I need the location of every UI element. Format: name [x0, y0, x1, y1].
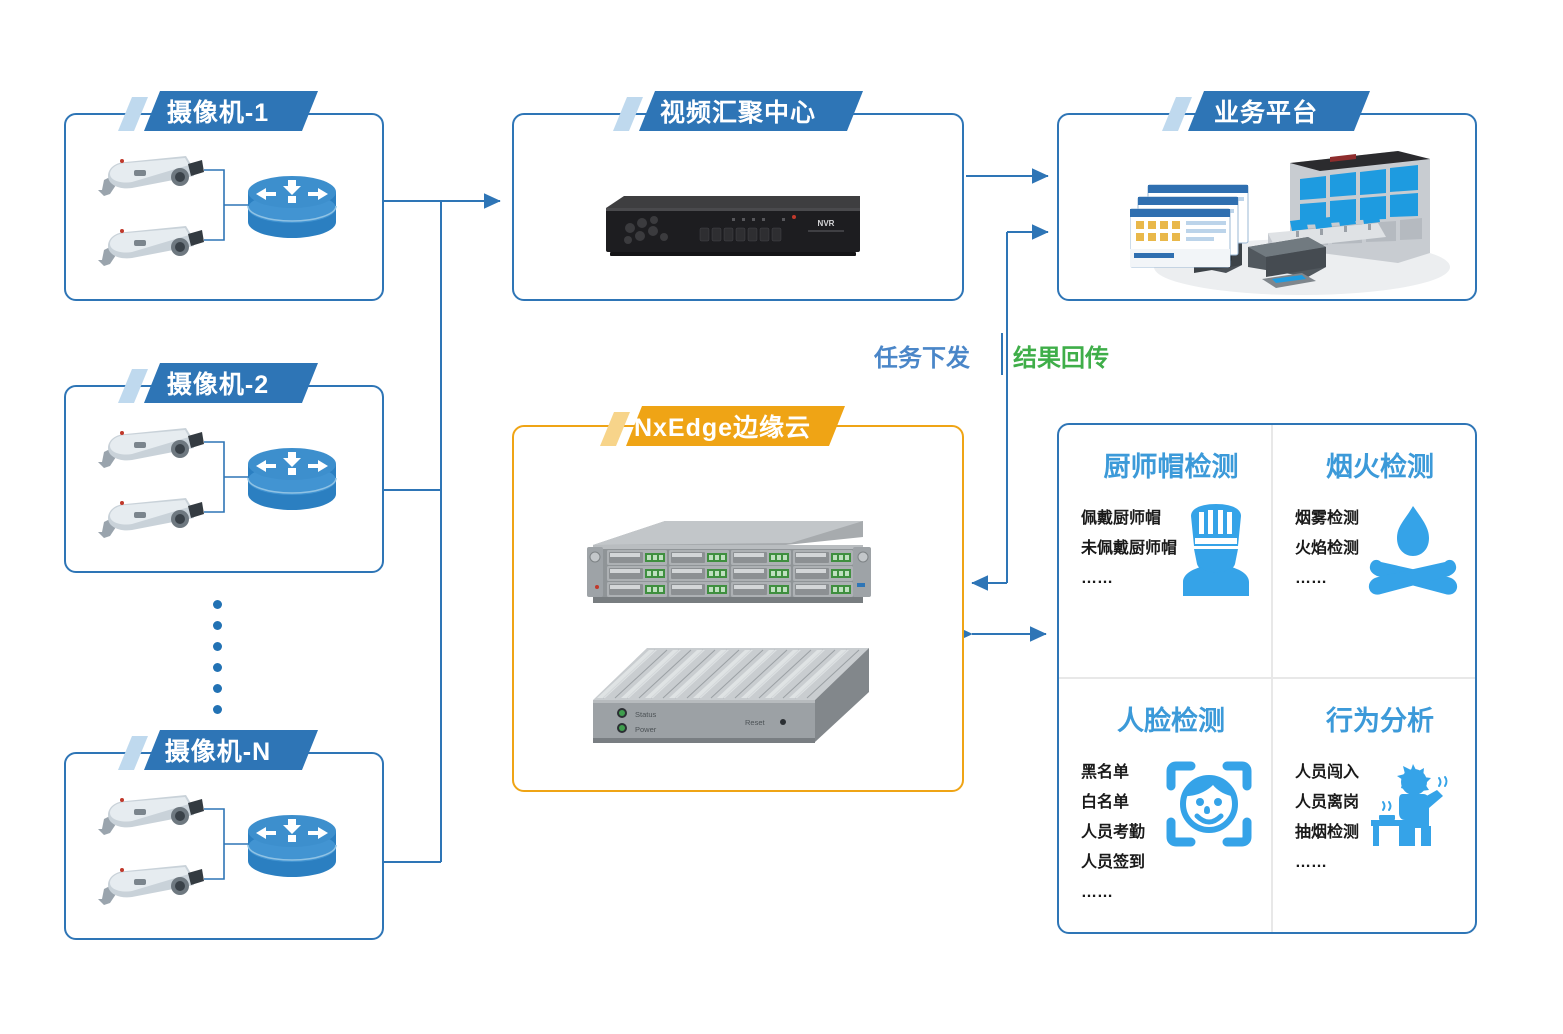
flow-label-task-dispatch: 任务下发 — [874, 338, 970, 373]
detection-cell-chef-hat[interactable]: 厨师帽检测 佩戴厨师帽 未佩戴厨师帽 …… — [1059, 425, 1273, 679]
banner-accent-tag — [118, 97, 148, 131]
face-scan-icon — [1163, 758, 1255, 850]
edge-cloud-banner: NxEdge边缘云 — [600, 406, 845, 446]
camera-group-banner-1: 摄像机-1 — [118, 91, 318, 131]
banner-accent-tag — [600, 412, 630, 446]
detection-items-face: 黑名单 白名单 人员考勤 人员签到 …… — [1081, 758, 1145, 908]
edge-appliance-icon: Status Power Reset — [585, 638, 875, 753]
camera-group-title-1: 摄像机-1 — [167, 93, 269, 129]
detection-cell-behavior[interactable]: 行为分析 人员闯入 人员离岗 抽烟检测 …… — [1273, 679, 1475, 933]
svg-text:Power: Power — [635, 725, 657, 734]
detection-title-face: 人脸检测 — [1081, 699, 1261, 738]
detection-capabilities-panel: 厨师帽检测 佩戴厨师帽 未佩戴厨师帽 …… — [1057, 423, 1477, 934]
detection-cell-fire[interactable]: 烟火检测 烟雾检测 火焰检测 …… — [1273, 425, 1475, 679]
control-room-icon — [1130, 145, 1460, 300]
cctv-camera-icon — [98, 795, 250, 905]
detection-items-fire: 烟雾检测 火焰检测 …… — [1295, 504, 1359, 594]
camera-group-graphic-2 — [78, 412, 398, 582]
banner-accent-tag — [118, 736, 148, 770]
detection-title-fire: 烟火检测 — [1295, 445, 1465, 484]
svg-text:Reset: Reset — [745, 718, 766, 727]
cctv-camera-icon — [98, 428, 250, 538]
rack-server-icon — [585, 513, 875, 613]
camera-group-ellipsis — [213, 600, 222, 714]
video-center-title: 视频汇聚中心 — [660, 93, 816, 129]
router-icon — [248, 448, 336, 510]
nvr-recorder-icon: NVR — [598, 190, 868, 260]
camera-group-banner-n: 摄像机-N — [118, 730, 318, 770]
edge-cloud-title: NxEdge边缘云 — [634, 408, 811, 444]
business-platform-banner: 业务平台 — [1162, 91, 1370, 131]
camera-group-graphic-n — [78, 779, 398, 949]
chef-hat-person-icon — [1177, 504, 1255, 596]
detection-title-behavior: 行为分析 — [1295, 699, 1465, 738]
video-center-banner: 视频汇聚中心 — [613, 91, 863, 131]
business-platform-title: 业务平台 — [1214, 93, 1318, 129]
fire-flame-icon — [1367, 504, 1459, 596]
diagram-canvas: 摄像机-1 — [0, 0, 1563, 1034]
camera-group-title-2: 摄像机-2 — [167, 365, 269, 401]
detection-cell-face[interactable]: 人脸检测 黑名单 白名单 人员考勤 人员签到 …… — [1059, 679, 1273, 933]
flow-label-result-return: 结果回传 — [1013, 338, 1109, 373]
camera-group-graphic-1 — [78, 140, 398, 310]
router-icon — [248, 815, 336, 877]
banner-accent-tag — [613, 97, 643, 131]
camera-group-banner-2: 摄像机-2 — [118, 363, 318, 403]
router-icon — [248, 176, 336, 238]
banner-accent-tag — [118, 369, 148, 403]
svg-text:NVR: NVR — [818, 219, 835, 228]
banner-accent-tag — [1162, 97, 1192, 131]
detection-items-behavior: 人员闯入 人员离岗 抽烟检测 …… — [1295, 758, 1359, 878]
camera-group-title-n: 摄像机-N — [165, 732, 271, 768]
detection-items-chef-hat: 佩戴厨师帽 未佩戴厨师帽 …… — [1081, 504, 1177, 594]
detection-grid: 厨师帽检测 佩戴厨师帽 未佩戴厨师帽 …… — [1059, 425, 1475, 932]
detection-title-chef-hat: 厨师帽检测 — [1081, 445, 1261, 484]
person-smoking-icon — [1367, 758, 1459, 850]
svg-text:Status: Status — [635, 710, 657, 719]
cctv-camera-icon — [98, 156, 250, 266]
